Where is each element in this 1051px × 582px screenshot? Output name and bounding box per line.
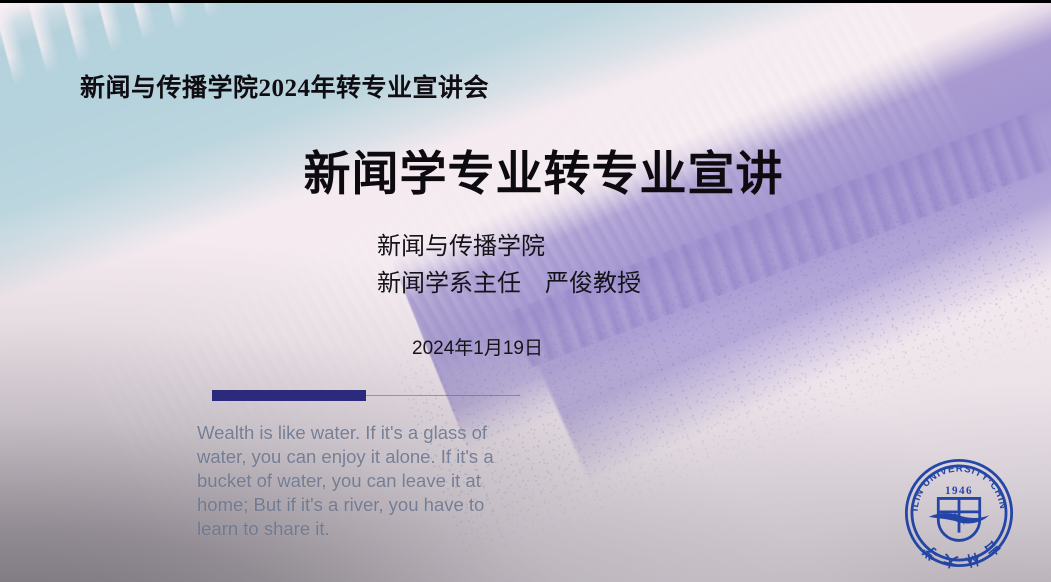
svg-text:吉林大学: 吉林大学 — [914, 537, 1003, 569]
seal-year: 1946 — [945, 485, 973, 497]
seal-arc-text-bottom: 吉林大学 — [914, 537, 1003, 569]
presenter-name-title: 新闻学系主任 严俊教授 — [377, 265, 641, 302]
slide-content: 新闻与传播学院2024年转专业宣讲会 新闻学专业转专业宣讲 新闻与传播学院 新闻… — [0, 0, 1051, 582]
accent-bar — [212, 390, 366, 401]
divider-hairline — [366, 395, 520, 396]
accent-divider — [212, 390, 520, 401]
presentation-slide: 新闻与传播学院2024年转专业宣讲会 新闻学专业转专业宣讲 新闻与传播学院 新闻… — [0, 0, 1051, 582]
quote-text: Wealth is like water. If it's a glass of… — [197, 421, 507, 541]
page-title: 新闻学专业转专业宣讲 — [0, 135, 1051, 204]
university-seal-logo: JILIN UNIVERSITY·CHINA 吉林大学 1946 — [903, 457, 1015, 569]
slide-date: 2024年1月19日 — [412, 333, 543, 360]
presenter-affiliation: 新闻与传播学院 — [377, 228, 641, 265]
event-kicker-heading: 新闻与传播学院2024年转专业宣讲会 — [80, 68, 489, 104]
presenter-block: 新闻与传播学院 新闻学系主任 严俊教授 — [377, 228, 641, 302]
